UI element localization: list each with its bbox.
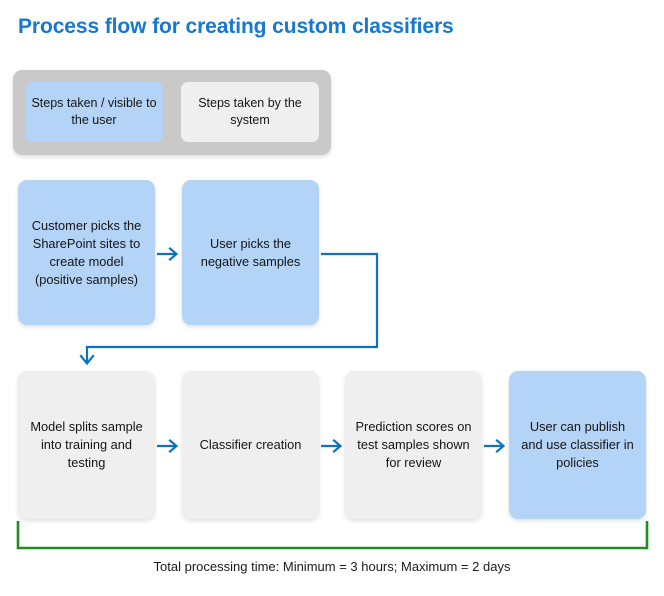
arrow-right-icon-prediction-to-publish [484, 441, 504, 452]
footer-caption-text: Total processing time: Minimum = 3 hours… [154, 559, 511, 574]
step-box-model-split: Model splits sample into training and te… [18, 371, 155, 519]
span-bracket-icon-total-processing-time [18, 521, 647, 548]
legend-item-system: Steps taken by the system [181, 82, 319, 142]
step-label-classifier-creation: Classifier creation [200, 436, 302, 454]
arrow-right-icon-model-split-to-classifier [157, 441, 177, 452]
arrow-right-icon-classifier-to-prediction [321, 441, 341, 452]
step-label-prediction-scores: Prediction scores on test samples shown … [354, 418, 473, 472]
arrow-right-icon-positive-to-negative [157, 249, 177, 260]
legend-item-system-label: Steps taken by the system [187, 95, 313, 129]
step-box-classifier-creation: Classifier creation [182, 371, 319, 519]
step-box-publish-classifier: User can publish and use classifier in p… [509, 371, 646, 519]
legend-item-user: Steps taken / visible to the user [25, 82, 163, 142]
step-label-model-split: Model splits sample into training and te… [27, 418, 146, 472]
legend-item-user-label: Steps taken / visible to the user [31, 95, 157, 129]
legend-container: Steps taken / visible to the user Steps … [13, 70, 331, 155]
step-box-positive-samples: Customer picks the SharePoint sites to c… [18, 180, 155, 325]
step-box-prediction-scores: Prediction scores on test samples shown … [345, 371, 482, 519]
page-title: Process flow for creating custom classif… [18, 14, 638, 40]
footer-caption: Total processing time: Minimum = 3 hours… [0, 558, 664, 576]
step-label-publish-classifier: User can publish and use classifier in p… [518, 418, 637, 472]
process-flow-diagram: Process flow for creating custom classif… [0, 0, 664, 596]
step-label-positive-samples: Customer picks the SharePoint sites to c… [27, 217, 146, 289]
step-box-negative-samples: User picks the negative samples [182, 180, 319, 325]
step-label-negative-samples: User picks the negative samples [191, 235, 310, 271]
